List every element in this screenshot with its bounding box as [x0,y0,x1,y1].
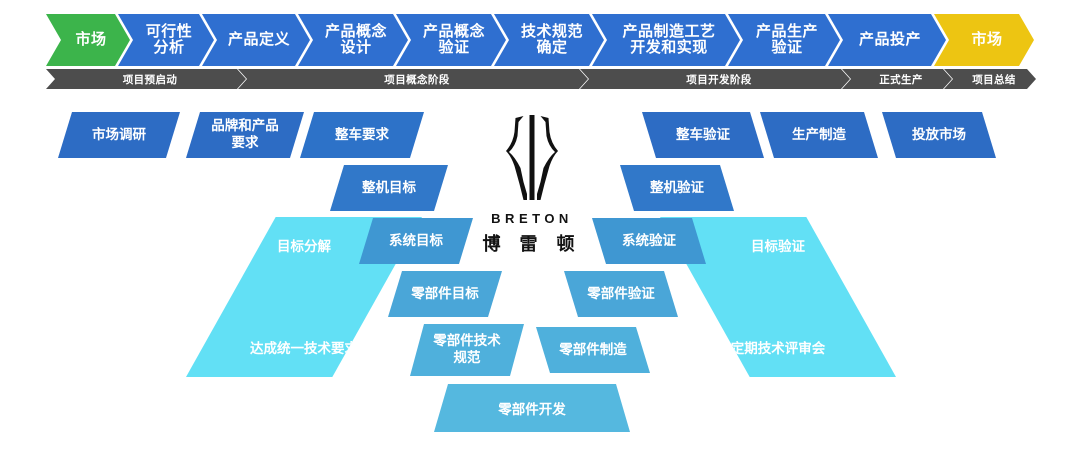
phase-stage-2: 项目开发阶段 [580,69,850,89]
phase-chevron-label: 技术规范 确定 [521,24,583,56]
phase-chevron-4[interactable]: 产品概念 验证 [396,14,506,66]
left-step-3[interactable]: 整机目标 [330,165,448,211]
phase-chevron-label: 产品制造工艺 开发和实现 [622,24,715,56]
phase-chevron-1[interactable]: 可行性 分析 [118,14,214,66]
phase-chevron-label: 产品概念 验证 [423,24,485,56]
phase-chevron-label: 产品生产 验证 [756,24,818,56]
v-model-diagram: 市场可行性 分析产品定义产品概念 设计产品概念 验证技术规范 确定产品制造工艺 … [0,0,1080,474]
right-step-3[interactable]: 整机验证 [620,165,734,211]
phase-stage-4: 项目总结 [944,69,1036,89]
highlight-left-label-1: 达成统一技术要求 [186,337,422,357]
phase-chevron-2[interactable]: 产品定义 [202,14,310,66]
right-step-6[interactable]: 零部件制造 [536,327,650,373]
right-step-5[interactable]: 零部件验证 [564,271,678,317]
phase-chevron-6[interactable]: 产品制造工艺 开发和实现 [592,14,740,66]
phase-chevron-label: 市场 [971,32,1002,48]
left-step-1[interactable]: 品牌和产品 要求 [186,112,304,158]
left-step-2[interactable]: 整车要求 [300,112,424,158]
brand-logo: BRETON 博 雷 顿 [462,112,602,252]
highlight-right-label-1: 定期技术评审会 [660,337,896,357]
right-step-4[interactable]: 系统验证 [592,218,706,264]
right-step-0[interactable]: 整车验证 [642,112,764,158]
phase-stage-3: 正式生产 [842,69,952,89]
phase-chevron-8[interactable]: 产品投产 [828,14,946,66]
phase-strip: 市场可行性 分析产品定义产品概念 设计产品概念 验证技术规范 确定产品制造工艺 … [0,0,1080,95]
phase-chevron-label: 产品投产 [859,32,921,48]
phase-chevron-3[interactable]: 产品概念 设计 [298,14,408,66]
logo-english-text: BRETON [462,211,602,226]
phase-chevron-9[interactable]: 市场 [934,14,1034,66]
phase-chevron-label: 可行性 分析 [146,24,193,56]
phase-chevron-0[interactable]: 市场 [46,14,130,66]
right-step-1[interactable]: 生产制造 [760,112,878,158]
phase-chevron-7[interactable]: 产品生产 验证 [728,14,840,66]
phase-stage-1: 项目概念阶段 [238,69,588,89]
bottom-step[interactable]: 零部件开发 [434,384,630,432]
phase-chevron-label: 产品定义 [228,32,290,48]
phase-chevron-label: 产品概念 设计 [325,24,387,56]
phase-stage-0: 项目预启动 [46,69,246,89]
left-step-0[interactable]: 市场调研 [58,112,180,158]
breton-emblem-icon [505,112,559,204]
logo-chinese-text: 博 雷 顿 [462,230,602,256]
right-step-2[interactable]: 投放市场 [882,112,996,158]
left-step-4[interactable]: 系统目标 [359,218,473,264]
phase-chevron-label: 市场 [75,32,106,48]
left-step-6[interactable]: 零部件技术 规范 [410,324,524,376]
phase-chevron-5[interactable]: 技术规范 确定 [494,14,604,66]
left-step-5[interactable]: 零部件目标 [388,271,502,317]
